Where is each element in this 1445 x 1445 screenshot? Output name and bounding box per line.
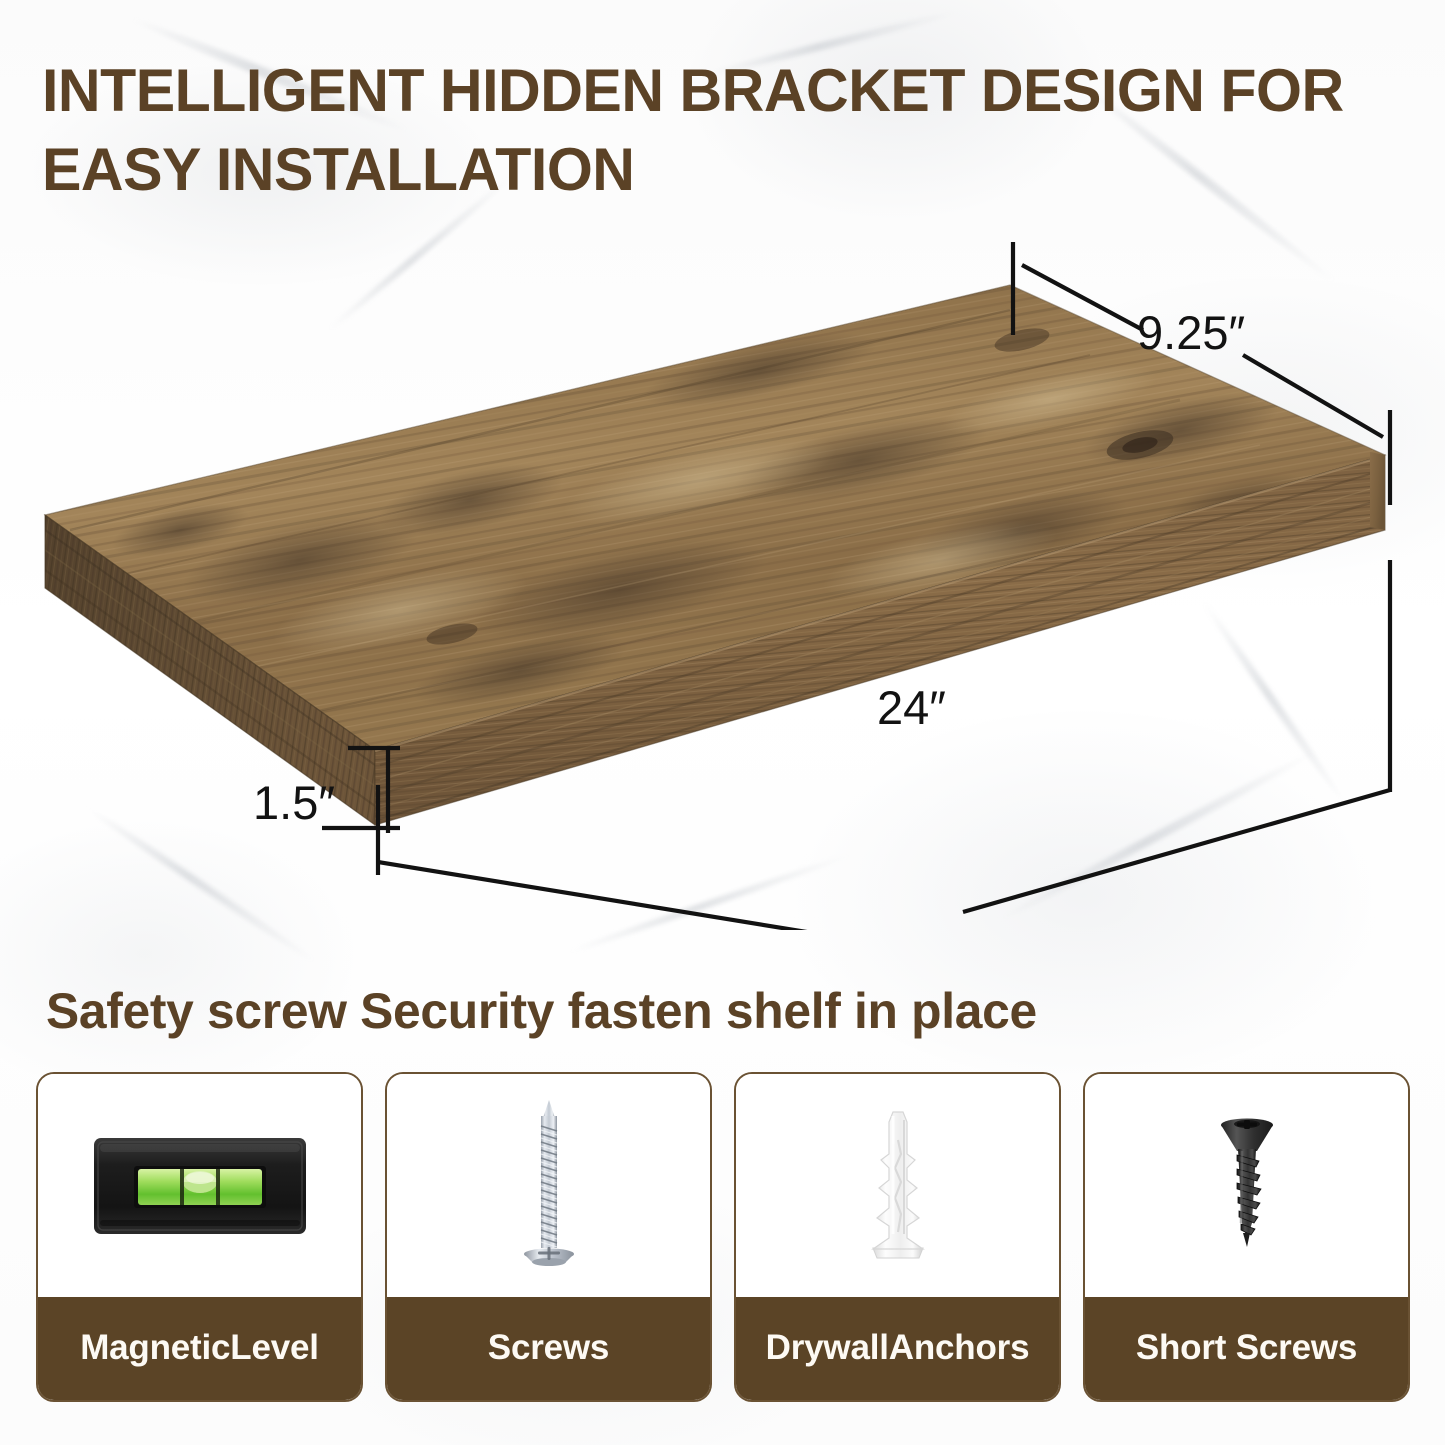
accessory-card-drywall-anchors[interactable]: Drywall Anchors [734,1072,1061,1402]
page-headline: INTELLIGENT HIDDEN BRACKET DESIGN FOR EA… [42,52,1401,209]
card-label-line2: Level [230,1328,319,1369]
accessory-card-screws[interactable]: Screws [385,1072,712,1402]
accessory-card-short-screws[interactable]: Short Screws [1083,1072,1410,1402]
section-subhead: Safety screw Security fasten shelf in pl… [46,984,1037,1039]
card-label-short-screws: Short Screws [1085,1297,1408,1400]
dimension-label-width: 24″ [877,680,946,735]
infographic-page: INTELLIGENT HIDDEN BRACKET DESIGN FOR EA… [0,0,1445,1445]
card-label-screws: Screws [387,1297,710,1400]
magnetic-level-icon [92,1134,308,1238]
card-label-line1: Drywall [766,1328,889,1369]
width-leader-left [378,862,868,930]
dimension-label-depth: 9.25″ [1137,305,1245,360]
drywall-anchor-icon [853,1106,943,1266]
accessory-card-magnetic-level[interactable]: Magnetic Level [36,1072,363,1402]
dimension-label-thickness: 1.5″ [253,775,335,830]
shelf-right-end [1370,452,1385,530]
card-label-drywall-anchors: Drywall Anchors [736,1297,1059,1400]
card-label-line1: Magnetic [80,1328,230,1369]
accessories-card-row: Magnetic Level [36,1072,1410,1402]
short-screw-icon [1207,1111,1287,1261]
screw-icon [514,1096,584,1276]
card-label-line2: Anchors [889,1328,1030,1369]
card-label-magnetic-level: Magnetic Level [38,1297,361,1400]
width-leader-right [963,790,1390,912]
card-media [38,1074,361,1297]
card-media [387,1074,710,1297]
card-media [1085,1074,1408,1297]
card-media [736,1074,1059,1297]
